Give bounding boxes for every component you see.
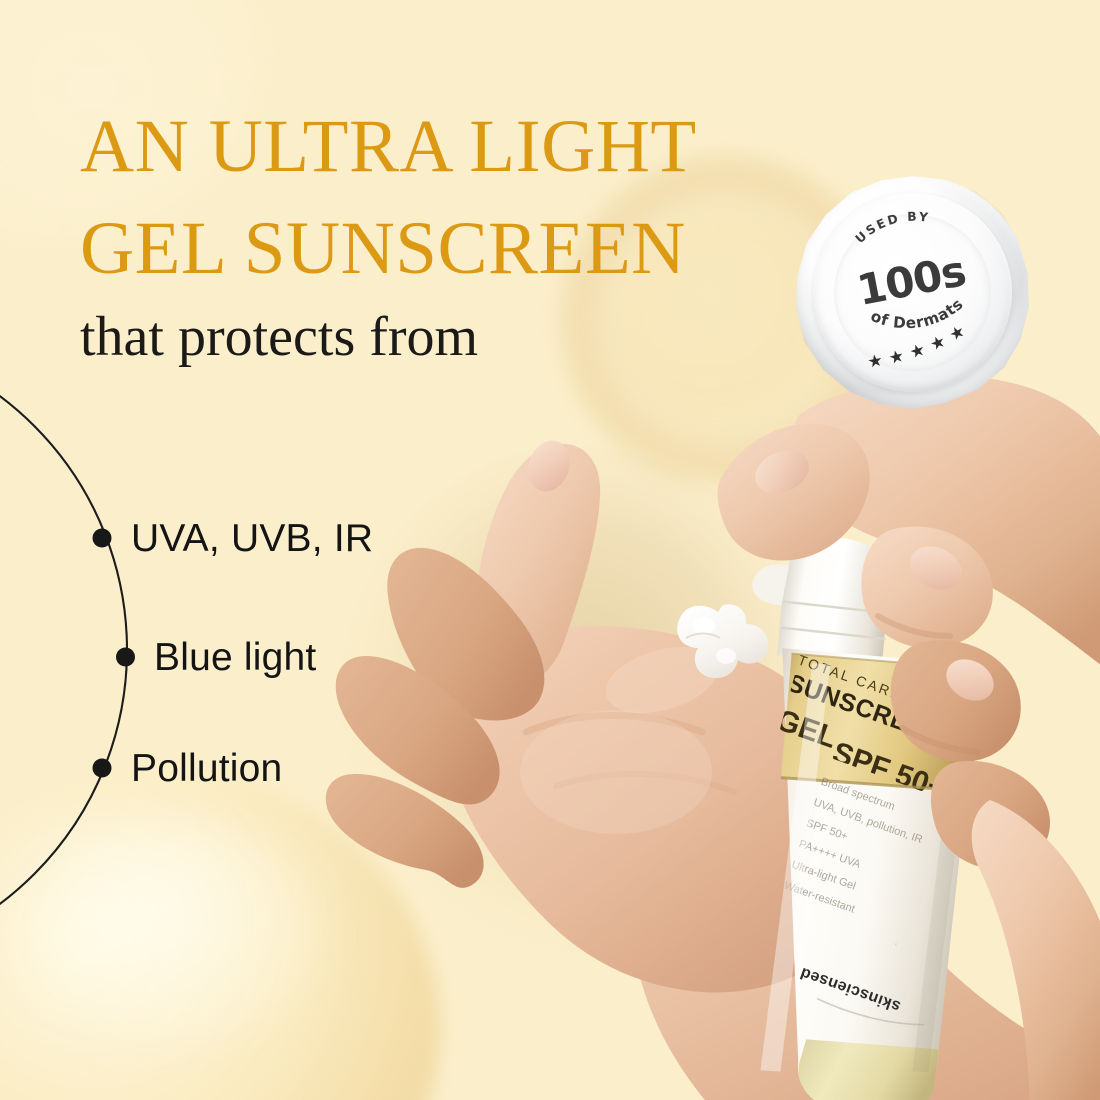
bullet-dot (93, 529, 112, 548)
hand-and-bottle-graphic: TOTAL CARE SUNSCREEN GEL SPF 50+ Broad s… (330, 380, 1100, 1100)
star-icon: ★ (866, 351, 884, 373)
list-item: Pollution (131, 747, 282, 791)
badge-face: USED BY 100s of Dermats ★ ★ (825, 205, 1000, 380)
star-icon: ★ (927, 331, 949, 355)
gel-droplet-blob-bottomleft-sheen (20, 820, 320, 1050)
page-subtitle: that protects from (80, 306, 478, 368)
star-icon: ★ (946, 321, 969, 346)
status-badge: USED BY 100s of Dermats ★ ★ (795, 175, 1030, 410)
bullet-label: Blue light (154, 636, 316, 680)
page-title: AN ULTRA LIGHT GEL SUNSCREEN (80, 96, 840, 300)
bullet-dot (116, 648, 135, 667)
list-item: Blue light (154, 636, 316, 680)
star-icon: ★ (907, 340, 928, 364)
hand-illustration: TOTAL CARE SUNSCREEN GEL SPF 50+ Broad s… (330, 380, 1100, 1100)
sunscreen-promo-banner: AN ULTRA LIGHT GEL SUNSCREEN that protec… (0, 0, 1100, 1100)
decorative-arc (0, 330, 140, 990)
bullet-dot (93, 759, 112, 778)
star-icon: ★ (886, 346, 906, 369)
bullet-label: Pollution (131, 747, 282, 791)
